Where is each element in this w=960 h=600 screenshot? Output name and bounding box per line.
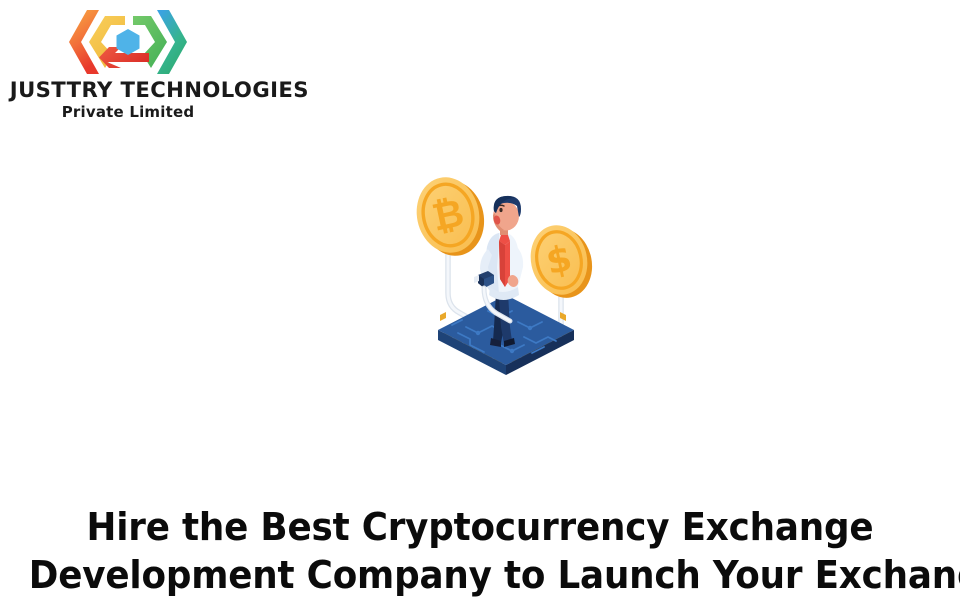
- dollar-coin: $: [524, 219, 598, 304]
- bitcoin-coin: ₿: [410, 175, 491, 263]
- headline-line-2: Development Company to Launch Your Excha…: [29, 551, 931, 599]
- justtry-hexagon-logo-icon: [63, 6, 193, 78]
- headline-line-1: Hire the Best Cryptocurrency Exchange: [29, 503, 931, 551]
- logo-wordmark: JUSTTRY TECHNOLOGIES: [10, 80, 246, 102]
- brand-logo[interactable]: JUSTTRY TECHNOLOGIES Private Limited: [8, 6, 248, 118]
- crypto-exchange-illustration: ₿: [400, 175, 600, 385]
- page-title: Hire the Best Cryptocurrency Exchange De…: [0, 503, 960, 599]
- logo-sub-wordmark: Private Limited: [8, 105, 248, 120]
